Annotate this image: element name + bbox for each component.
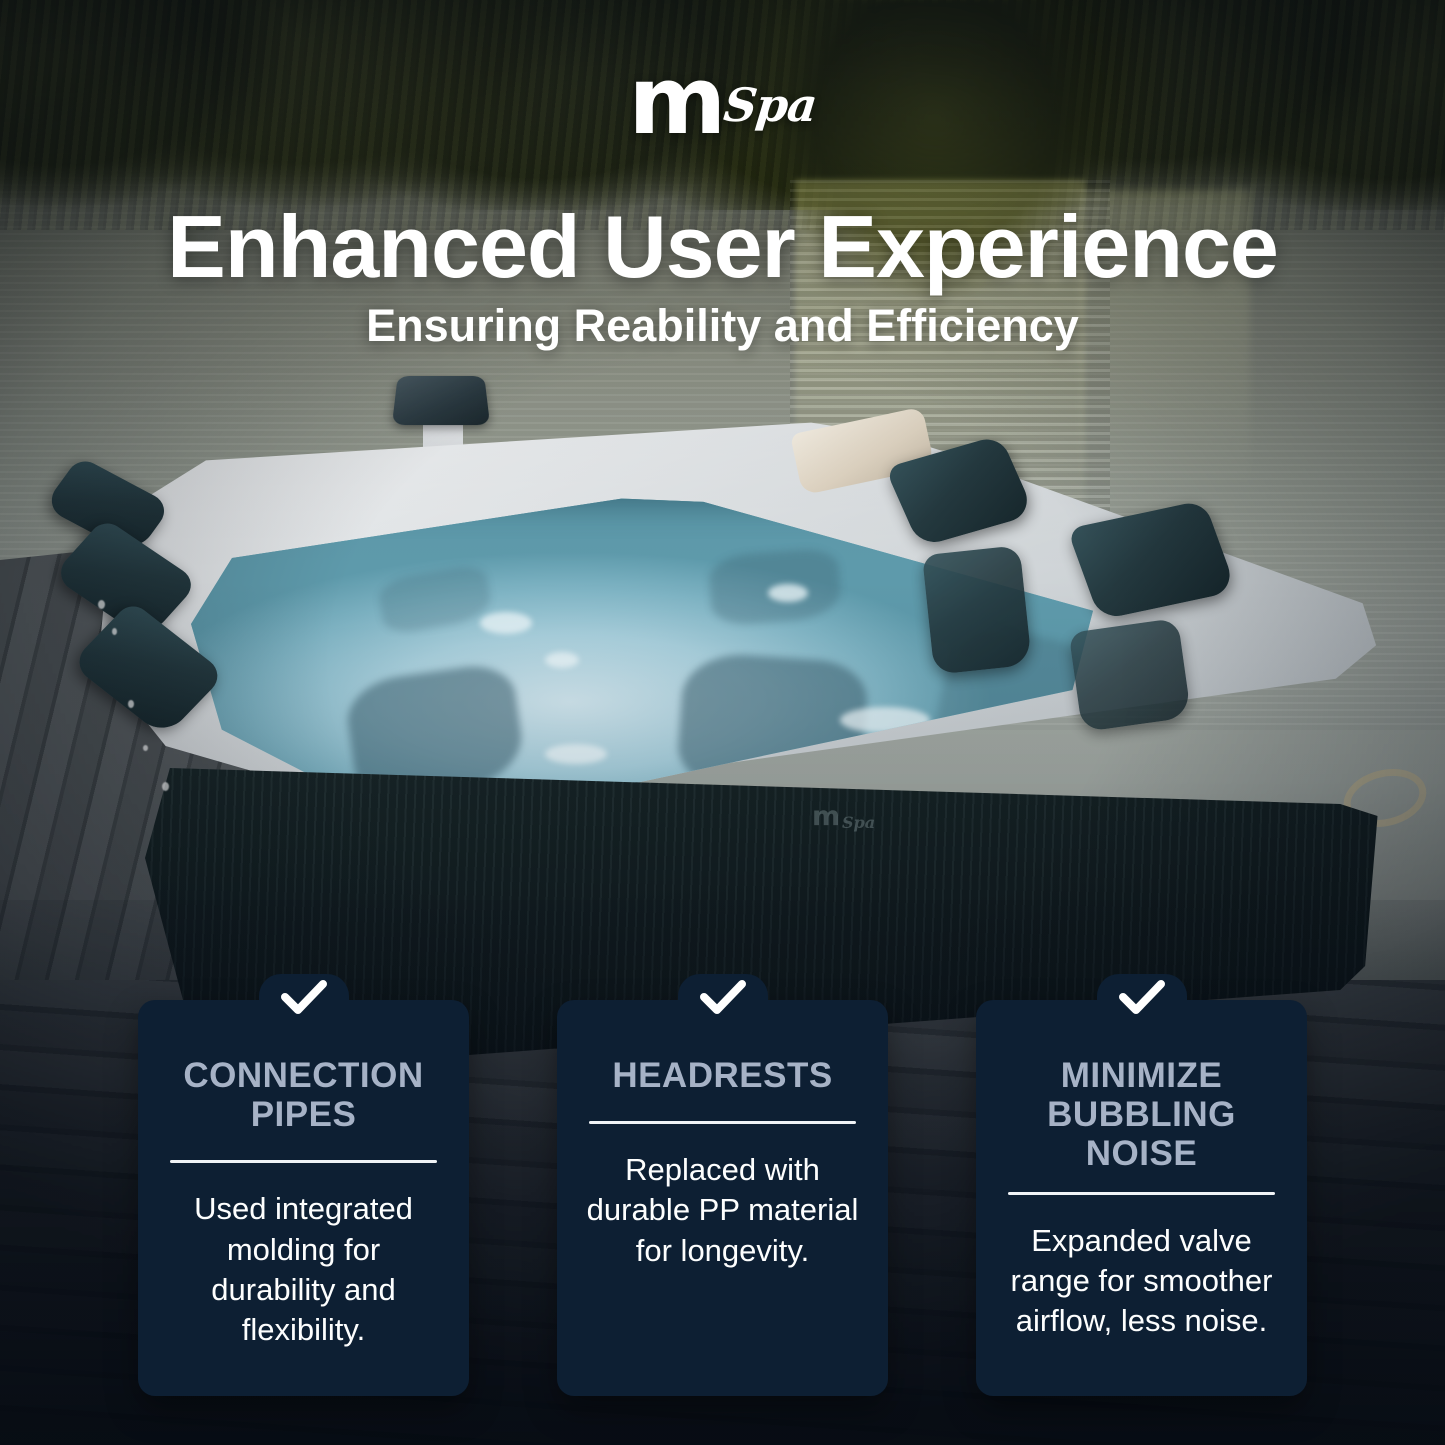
page-title: Enhanced User Experience bbox=[0, 196, 1445, 298]
feature-divider bbox=[589, 1121, 856, 1124]
check-icon bbox=[281, 980, 327, 1016]
feature-description: Expanded valve range for smoother airflo… bbox=[1002, 1221, 1281, 1342]
feature-card-minimize-bubbling-noise[interactable]: MINIMIZE BUBBLING NOISE Expanded valve r… bbox=[976, 1000, 1307, 1396]
feature-card-list: CONNECTION PIPES Used integrated molding… bbox=[138, 1000, 1318, 1396]
feature-description: Replaced with durable PP material for lo… bbox=[583, 1150, 862, 1271]
feature-title: MINIMIZE BUBBLING NOISE bbox=[1002, 1056, 1281, 1174]
feature-divider bbox=[1008, 1192, 1275, 1195]
feature-card-connection-pipes[interactable]: CONNECTION PIPES Used integrated molding… bbox=[138, 1000, 469, 1396]
marketing-poster: m Spa m Spa Enhanced User Experience Ens… bbox=[0, 0, 1445, 1445]
feature-divider bbox=[170, 1160, 437, 1163]
page-subtitle: Ensuring Reability and Efficiency bbox=[0, 300, 1445, 352]
check-icon bbox=[700, 980, 746, 1016]
feature-card-headrests[interactable]: HEADRESTS Replaced with durable PP mater… bbox=[557, 1000, 888, 1396]
check-icon bbox=[1119, 980, 1165, 1016]
feature-title: HEADRESTS bbox=[583, 1056, 862, 1095]
feature-title: CONNECTION PIPES bbox=[164, 1056, 443, 1134]
feature-description: Used integrated molding for durability a… bbox=[164, 1189, 443, 1350]
